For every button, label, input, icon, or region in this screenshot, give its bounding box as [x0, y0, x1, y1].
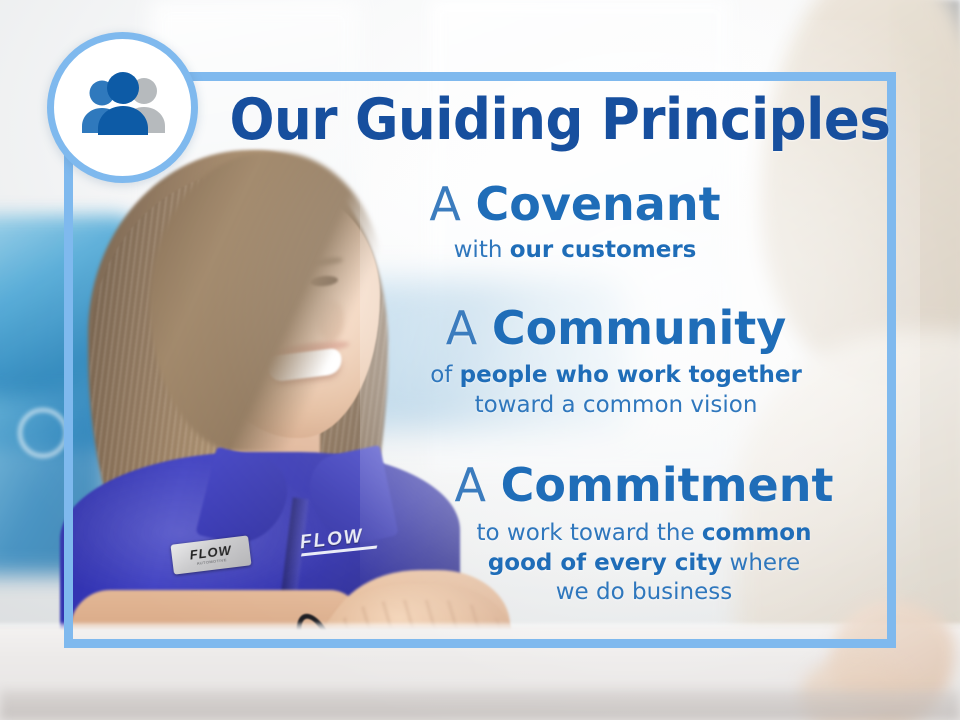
- principle-commitment-body-line1: to work toward the common: [408, 519, 880, 549]
- principle-commitment-keyword: Commitment: [501, 458, 834, 512]
- floor-shadow: [0, 690, 960, 720]
- principle-commitment-body-tail: where: [722, 550, 800, 576]
- principle-commitment-article: A: [455, 458, 501, 512]
- principle-community-keyword: Community: [492, 301, 786, 355]
- people-group-icon: [73, 71, 173, 145]
- principle-community-body-line2: toward a common vision: [352, 391, 880, 421]
- principle-covenant-article: A: [429, 177, 475, 231]
- principle-community-body-emphasis: people who work together: [460, 362, 802, 388]
- principle-community-body: of people who work together toward a com…: [352, 361, 880, 421]
- principle-community-body-line1: of people who work together: [352, 361, 880, 391]
- principle-community-body-lead: of: [430, 362, 459, 388]
- principle-commitment-title: A Commitment: [408, 461, 880, 511]
- principle-commitment-body-line3: we do business: [408, 578, 880, 608]
- principle-community-article: A: [446, 301, 492, 355]
- principle-covenant-body-emphasis: our customers: [510, 237, 697, 263]
- principle-commitment: A Commitment to work toward the common g…: [300, 461, 880, 608]
- vehicle-emblem-icon: [18, 408, 68, 458]
- principle-commitment-body: to work toward the common good of every …: [408, 519, 880, 609]
- principle-community: A Community of people who work together …: [300, 304, 880, 421]
- principle-community-title: A Community: [352, 304, 880, 354]
- principle-commitment-body-emphasis-2: good of every city: [488, 550, 722, 576]
- principle-commitment-body-lead: to work toward the: [477, 520, 702, 546]
- principle-commitment-body-emphasis-1: common: [702, 520, 812, 546]
- principles-list: A Covenant with our customers A Communit…: [300, 180, 880, 614]
- principle-covenant-keyword: Covenant: [476, 177, 721, 231]
- principle-covenant-title: A Covenant: [300, 180, 850, 230]
- page-title: Our Guiding Principles: [229, 92, 852, 149]
- principle-covenant-body: with our customers: [300, 236, 850, 266]
- guiding-principles-banner: FLOW AUTOMOTIVE FLOW: [0, 0, 960, 720]
- people-group-icon-badge: [47, 32, 198, 183]
- principle-commitment-body-line2: good of every city where: [408, 549, 880, 579]
- principle-covenant: A Covenant with our customers: [300, 180, 880, 266]
- principle-covenant-body-lead: with: [454, 237, 510, 263]
